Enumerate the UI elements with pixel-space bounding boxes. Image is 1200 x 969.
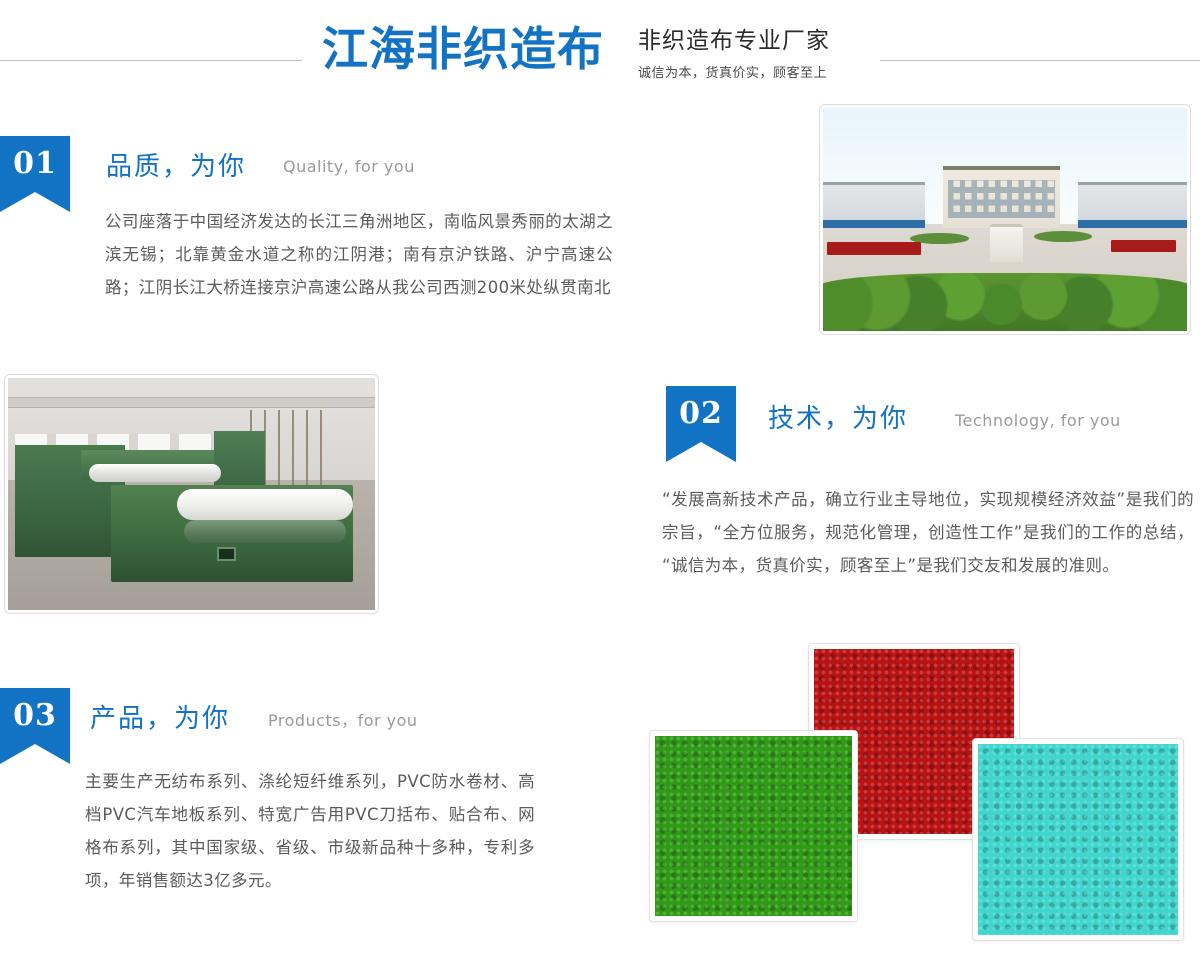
green-leather-swatch: [649, 730, 858, 922]
production-machine-photo: 绿色无纺布生产机械车间: [4, 374, 379, 614]
slogan-secondary: 诚信为本，货真价实，顾客至上: [638, 62, 868, 81]
header-slogan-group: 非织造布专业厂家 诚信为本，货真价实，顾客至上: [638, 26, 868, 81]
photo-lawn-right: [1034, 231, 1092, 242]
section-subtitle-01: Quality, for you: [283, 156, 415, 178]
machine-upper-fabric-roll: [89, 464, 221, 483]
factory-aerial-photo: 江海非织造布厂区鸟瞰全景: [819, 104, 1191, 335]
slogan-primary: 非织造布专业厂家: [638, 26, 868, 56]
machine-ceiling-beam: [8, 397, 375, 409]
header-divider-right: [880, 60, 1200, 61]
section-title-03: 产品，为你: [90, 703, 230, 735]
production-machine-photo-image: 绿色无纺布生产机械车间: [8, 378, 375, 610]
photo-tree-row: [823, 273, 1187, 331]
photo-right-workshop: [1078, 182, 1187, 222]
cyan-leather-swatch: [972, 738, 1184, 941]
machine-drum: [184, 520, 345, 543]
photo-office-building: [943, 166, 1059, 228]
page-header: 江海非织造布 非织造布专业厂家 诚信为本，货真价实，顾客至上: [0, 0, 1200, 100]
photo-guard-house: [990, 224, 1023, 262]
header-divider-left: [0, 60, 302, 61]
photo-company-sign-left: [827, 242, 922, 255]
photo-company-sign-right: [1111, 240, 1177, 252]
section-body-01: 公司座落于中国经济发达的长江三角洲地区，南临风景秀丽的太湖之滨无锡；北靠黄金水道…: [105, 205, 613, 304]
section-title-01: 品质，为你: [106, 151, 246, 183]
section-subtitle-02: Technology, for you: [955, 410, 1121, 432]
section-title-02: 技术，为你: [768, 403, 908, 435]
brand-title: 江海非织造布: [322, 22, 604, 76]
company-intro-page: 江海非织造布 非织造布专业厂家 诚信为本，货真价实，顾客至上 01 品质，为你 …: [0, 0, 1200, 969]
section-subtitle-03: Products，for you: [268, 710, 418, 732]
section-badge-01: 01: [0, 136, 70, 192]
section-badge-02: 02: [666, 386, 736, 442]
section-badge-03: 03: [0, 688, 70, 744]
factory-aerial-photo-image: 江海非织造布厂区鸟瞰全景: [823, 108, 1187, 331]
machine-control-panel: [217, 547, 235, 561]
green-leather-texture: [655, 736, 852, 916]
section-body-02: “发展高新技术产品，确立行业主导地位，实现规模经济效益”是我们的宗旨，“全方位服…: [662, 483, 1194, 582]
machine-main-fabric-roll: [177, 489, 353, 519]
section-body-03: 主要生产无纺布系列、涤纶短纤维系列，PVC防水卷材、高档PVC汽车地板系列、特宽…: [85, 765, 535, 897]
photo-left-workshop: [823, 182, 925, 222]
cyan-leather-texture: [978, 744, 1178, 935]
